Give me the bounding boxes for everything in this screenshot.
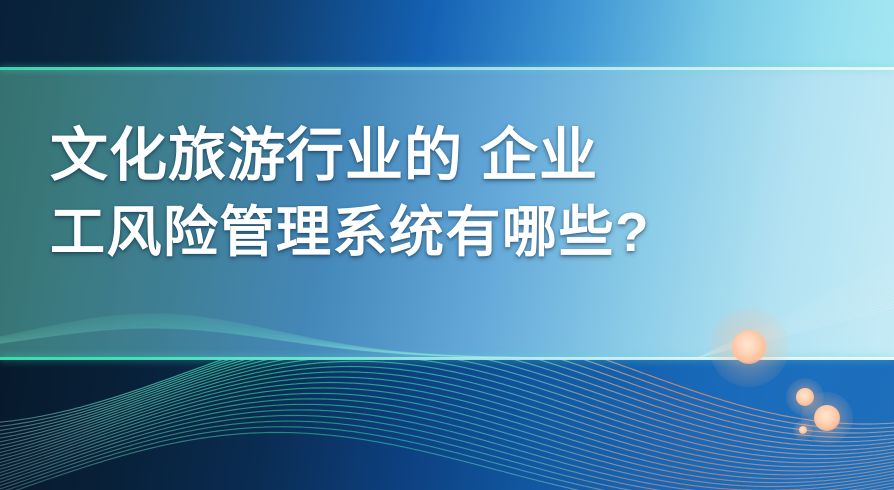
- title-line-2: 工风险管理系统有哪些?: [50, 194, 880, 270]
- background-band-bottom: [0, 359, 894, 490]
- title-line-1: 文化旅游行业的 企业: [50, 118, 880, 194]
- page-title: 文化旅游行业的 企业 工风险管理系统有哪些?: [50, 118, 880, 270]
- background-band-top: [0, 0, 894, 69]
- banner-canvas: 文化旅游行业的 企业 工风险管理系统有哪些?: [0, 0, 894, 490]
